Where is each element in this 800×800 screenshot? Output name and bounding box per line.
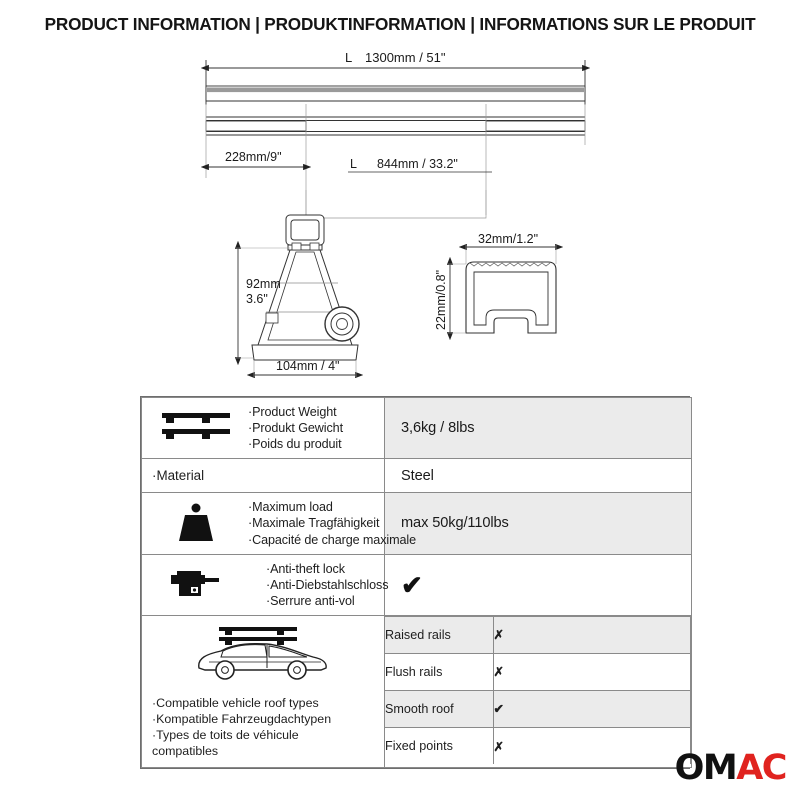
roof-type-name: Smooth roof (385, 690, 493, 727)
technical-drawing: L 1300mm / 51" 228mm/9" L 844mm / 33.2" (0, 0, 800, 390)
weight-icon (150, 501, 242, 545)
roof-type-row: Flush rails ✗ (385, 653, 691, 690)
anti-theft-check: ✔ (385, 572, 691, 598)
dim-tower-height-mm: 92mm (246, 277, 281, 291)
dim-profile-height: 22mm/0.8" (434, 270, 448, 330)
label-fr-cont: compatibles (152, 743, 331, 759)
label-en: ·Compatible vehicle roof types (152, 695, 331, 711)
dim-span-prefix: L (350, 157, 357, 171)
label-en: ·Maximum load (248, 499, 416, 515)
table-row-roof-types: ·Compatible vehicle roof types ·Kompatib… (142, 615, 692, 768)
profile-cross-section (466, 262, 556, 333)
row-labels: ·Product Weight ·Produkt Gewicht ·Poids … (248, 404, 343, 452)
profile-width-dimension (466, 245, 556, 264)
row-labels: ·Maximum load ·Maximale Tragfähigkeit ·C… (248, 499, 416, 547)
label-en: ·Product Weight (248, 404, 343, 420)
roof-type-row: Fixed points ✗ (385, 727, 691, 764)
specification-table: ·Product Weight ·Produkt Gewicht ·Poids … (140, 396, 690, 769)
table-row: ·Maximum load ·Maximale Tragfähigkeit ·C… (142, 493, 692, 554)
roof-type-name: Raised rails (385, 616, 493, 653)
dim-profile-width: 32mm/1.2" (478, 232, 538, 246)
label-de: ·Maximale Tragfähigkeit (248, 515, 416, 531)
dim-foot-offset: 228mm/9" (225, 150, 282, 164)
roof-type-mark: ✗ (493, 653, 691, 690)
profile-height-dimension (448, 264, 466, 333)
roof-type-row: Smooth roof ✔ (385, 690, 691, 727)
material-label: ·Material (142, 468, 384, 483)
dim-overall-prefix: L (345, 50, 352, 65)
row-labels: ·Anti-theft lock ·Anti-Diebstahlschloss … (248, 561, 388, 609)
dim-overall-value: 1300mm / 51" (365, 50, 446, 65)
roof-type-mark: ✗ (493, 616, 691, 653)
crossbar-side-view (206, 117, 585, 135)
car-with-rack-icon (181, 622, 346, 689)
material-value: Steel (385, 468, 691, 484)
roof-types-labels: ·Compatible vehicle roof types ·Kompatib… (148, 695, 331, 760)
tower-lock-icon (325, 307, 359, 341)
label-de: ·Kompatible Fahrzeugdachtypen (152, 711, 331, 727)
dim-span-value: 844mm / 33.2" (377, 157, 458, 171)
label-fr: ·Serrure anti-vol (266, 593, 388, 609)
product-weight-value: 3,6kg / 8lbs (385, 420, 691, 436)
crossbar-plan-view (206, 86, 585, 101)
logo-text-red: AC (736, 748, 786, 788)
omac-logo: OMAC (675, 751, 786, 786)
table-row: ·Anti-theft lock ·Anti-Diebstahlschloss … (142, 554, 692, 615)
table-row: ·Product Weight ·Produkt Gewicht ·Poids … (142, 398, 692, 459)
label-de: ·Produkt Gewicht (248, 420, 343, 436)
roof-type-name: Fixed points (385, 727, 493, 764)
roof-type-name: Flush rails (385, 653, 493, 690)
label-en: ·Anti-theft lock (266, 561, 388, 577)
dim-tower-height-in: 3.6" (246, 292, 268, 306)
label-de: ·Anti-Diebstahlschloss (266, 577, 388, 593)
crossbars-icon (150, 409, 242, 447)
roof-type-row: Raised rails ✗ (385, 616, 691, 653)
roof-type-mark: ✔ (493, 690, 691, 727)
dim-tower-width: 104mm / 4" (276, 359, 340, 373)
label-fr: ·Poids du produit (248, 436, 343, 452)
roof-types-subtable: Raised rails ✗ Flush rails ✗ Smooth roof… (385, 616, 691, 765)
table-row: ·Material Steel (142, 459, 692, 493)
roof-type-mark: ✗ (493, 727, 691, 764)
label-fr: ·Types de toits de véhicule (152, 727, 331, 743)
lock-icon (150, 567, 242, 603)
label-fr: ·Capacité de charge maximale (248, 532, 416, 548)
logo-text-dark: OM (675, 748, 737, 788)
max-load-value: max 50kg/110lbs (385, 515, 691, 531)
span-dimension (306, 190, 486, 218)
